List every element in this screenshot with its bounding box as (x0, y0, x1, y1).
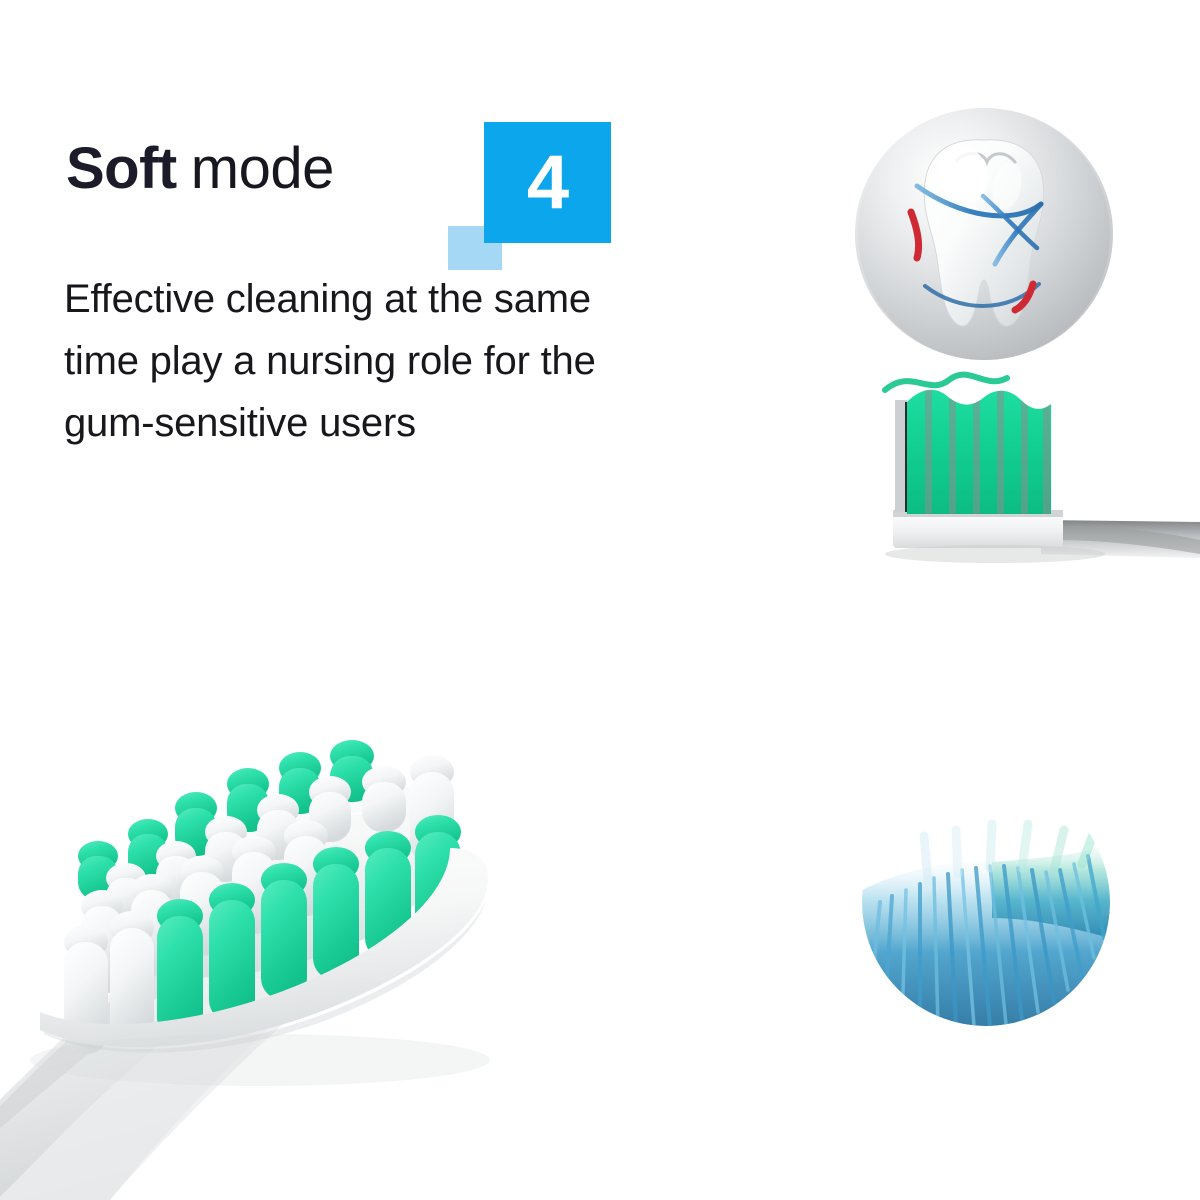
product-feature-slide: Softmode 4 Effective cleaning at the sam… (0, 0, 1200, 1200)
side-profile-illustration (845, 362, 1200, 592)
description-line-2: time play a nursing role for the (64, 330, 724, 392)
description-line-3: gum-sensitive users (64, 392, 724, 454)
macro-circle-gradient-ring (860, 776, 1112, 1028)
tooth-circle-gradient-ring (852, 105, 1116, 363)
toothbrush-head-bristles-photo (0, 560, 660, 1200)
badge-number: 4 (484, 145, 611, 221)
description-line-1: Effective cleaning at the same (64, 268, 724, 330)
headline-regular-word: mode (191, 136, 334, 201)
mode-number-badge: 4 (484, 122, 611, 243)
headline-bold-word: Soft (66, 136, 177, 201)
feature-description: Effective cleaning at the same time play… (64, 268, 724, 454)
wavy-bristle-side-profile (845, 362, 1200, 592)
page-title: Softmode (66, 140, 334, 198)
toothbrush-illustration (0, 560, 660, 1200)
